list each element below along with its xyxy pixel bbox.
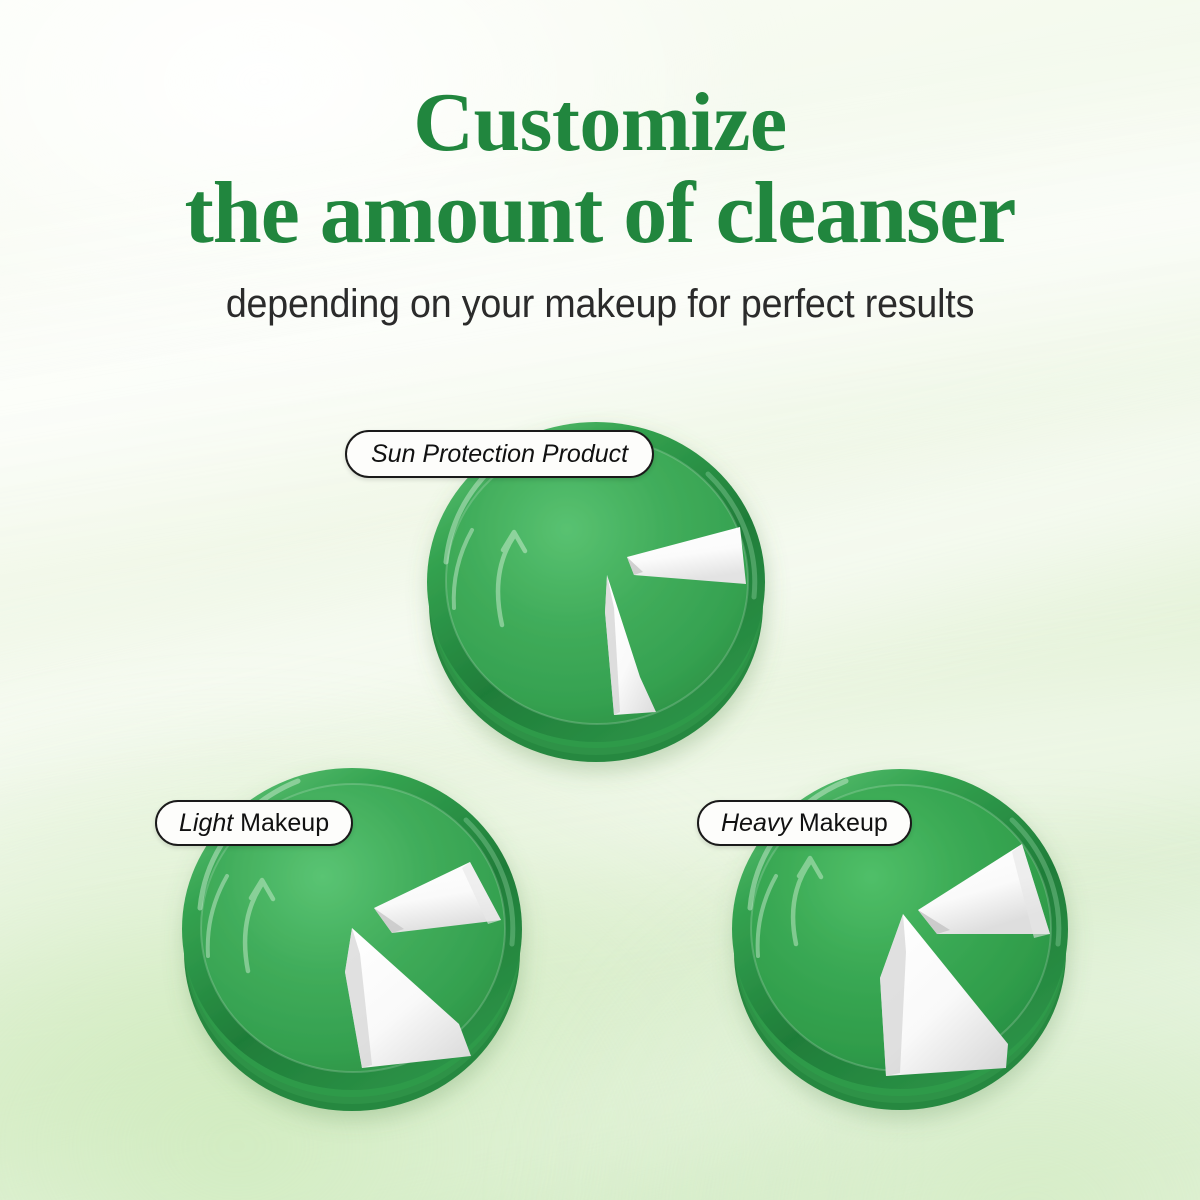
label-rest: Makeup bbox=[233, 809, 329, 837]
page-title: Customize the amount of cleanser bbox=[0, 78, 1200, 260]
poster-canvas: Customize the amount of cleanser dependi… bbox=[0, 0, 1200, 1200]
label-rest: Makeup bbox=[792, 809, 888, 837]
title-line-2: the amount of cleanser bbox=[0, 167, 1200, 260]
label-emphasis: Light bbox=[179, 809, 233, 837]
title-line-1: Customize bbox=[413, 76, 786, 169]
page-subtitle: depending on your makeup for perfect res… bbox=[36, 282, 1164, 327]
label-emphasis: Sun Protection Product bbox=[371, 440, 628, 468]
label-heavy-makeup[interactable]: Heavy Makeup bbox=[697, 800, 912, 846]
label-emphasis: Heavy bbox=[721, 809, 792, 837]
label-text: Light Makeup bbox=[179, 811, 329, 836]
headline-block: Customize the amount of cleanser dependi… bbox=[0, 78, 1200, 327]
label-light-makeup[interactable]: Light Makeup bbox=[155, 800, 353, 846]
label-sun-protection-product[interactable]: Sun Protection Product bbox=[345, 430, 654, 478]
label-text: Heavy Makeup bbox=[721, 811, 888, 836]
label-text: Sun Protection Product bbox=[371, 442, 628, 467]
